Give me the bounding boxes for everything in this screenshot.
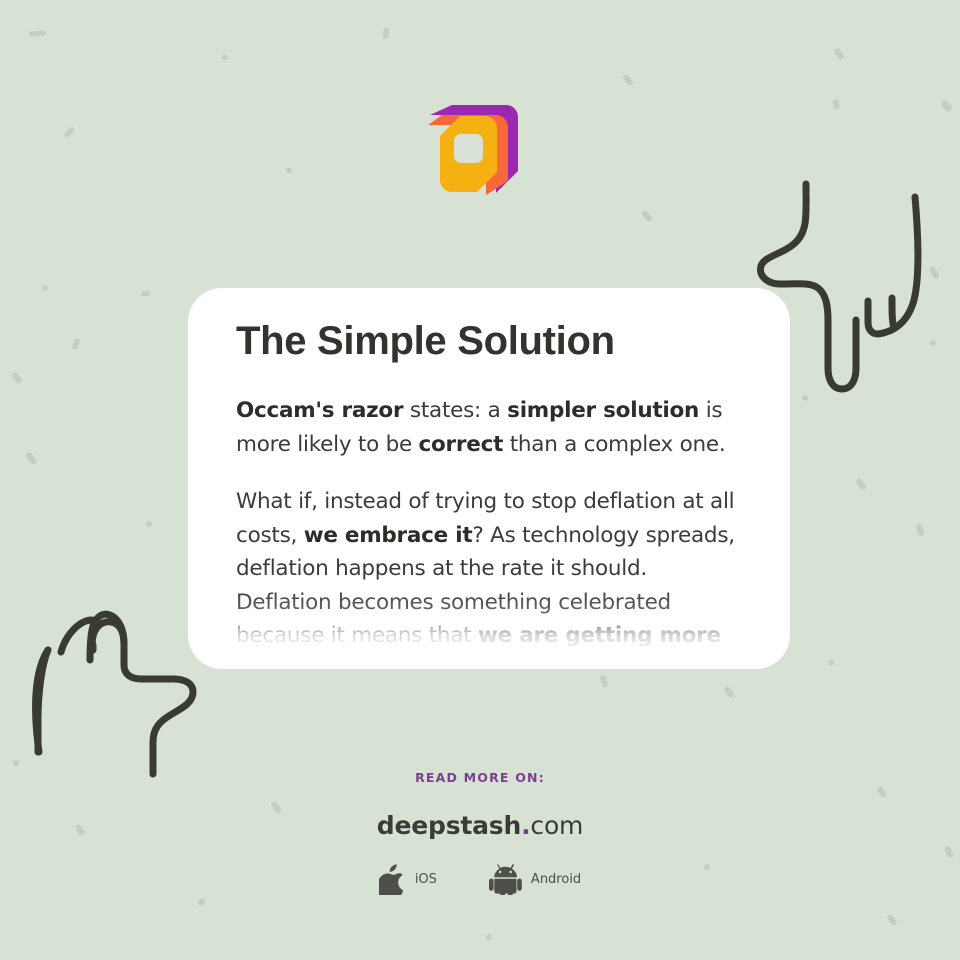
read-more-label: READ MORE ON: xyxy=(0,770,960,785)
brand-dot: . xyxy=(521,811,530,840)
ios-label: iOS xyxy=(415,872,437,887)
card-paragraph: Occam's razor states: a simpler solution… xyxy=(236,394,744,461)
app-store-badges: iOS Android xyxy=(0,864,960,895)
apple-icon xyxy=(379,864,406,895)
deepstash-share-card: The Simple Solution Occam's razor states… xyxy=(0,0,960,960)
android-icon xyxy=(489,864,522,895)
brand-tld: com xyxy=(530,811,583,840)
deepstash-logo-icon xyxy=(428,103,520,195)
brand-name: deepstash xyxy=(377,811,521,840)
android-label: Android xyxy=(531,872,581,887)
card-paragraph: What if, instead of trying to stop defla… xyxy=(236,485,744,669)
android-store-link[interactable]: Android xyxy=(489,864,581,895)
brand-wordmark[interactable]: deepstash.com xyxy=(0,811,960,840)
card-content: The Simple Solution Occam's razor states… xyxy=(188,288,790,669)
content-card: The Simple Solution Occam's razor states… xyxy=(188,288,790,669)
ios-store-link[interactable]: iOS xyxy=(379,864,437,895)
page-title: The Simple Solution xyxy=(236,318,744,364)
